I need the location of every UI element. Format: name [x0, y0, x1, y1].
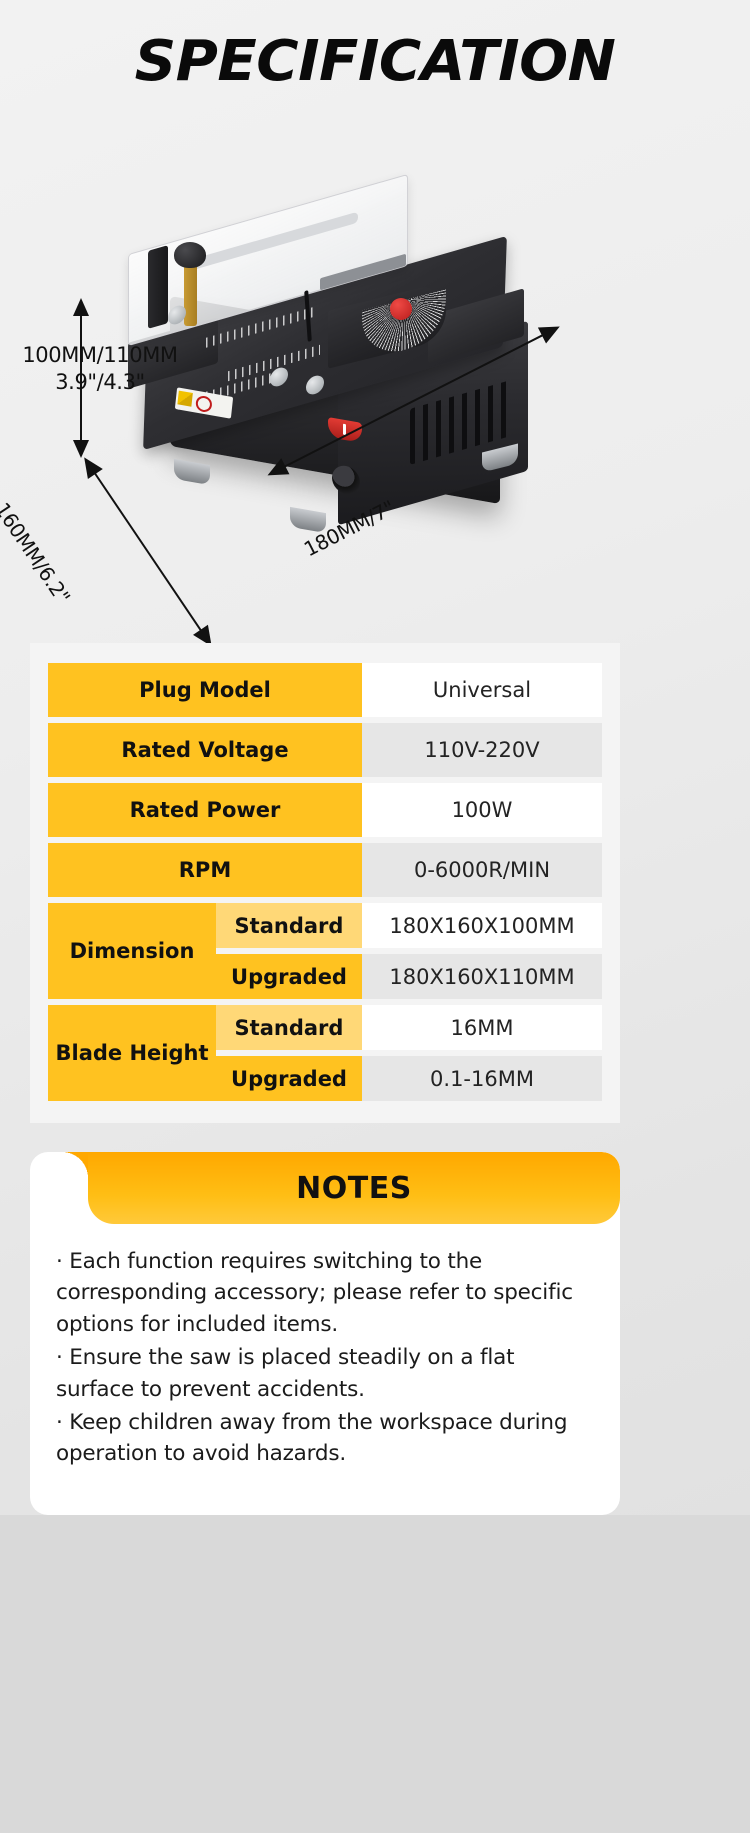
page-title: SPECIFICATION	[0, 34, 750, 90]
rubber-foot	[174, 459, 210, 485]
notes-title: NOTES	[296, 1171, 412, 1206]
spec-table-card: Plug Model Universal Rated Voltage 110V-…	[30, 643, 620, 1123]
page-footer-spacer	[0, 1515, 750, 1833]
note-item: · Keep children away from the workspace …	[56, 1407, 594, 1470]
spec-value-rated-power: 100W	[362, 783, 602, 837]
spec-sub-dimension-upgraded: Upgraded	[216, 954, 362, 999]
notes-body: · Each function requires switching to th…	[30, 1224, 620, 1470]
height-dimension-mm: 100MM/110MM	[0, 342, 200, 369]
note-item: · Each function requires switching to th…	[56, 1246, 594, 1340]
note-item: · Ensure the saw is placed steadily on a…	[56, 1342, 594, 1405]
spec-key-rated-power: Rated Power	[48, 783, 362, 837]
spec-value-blade-height-upgraded: 0.1-16MM	[362, 1056, 602, 1101]
table-row: RPM 0-6000R/MIN	[48, 843, 602, 897]
table-row: Plug Model Universal	[48, 663, 602, 717]
spec-value-rpm: 0-6000R/MIN	[362, 843, 602, 897]
table-row: Rated Voltage 110V-220V	[48, 723, 602, 777]
spec-table: Plug Model Universal Rated Voltage 110V-…	[48, 657, 602, 1107]
spec-key-rated-voltage: Rated Voltage	[48, 723, 362, 777]
depth-dimension-label: 160MM/6.2"	[0, 498, 75, 608]
spec-value-dimension-upgraded: 180X160X110MM	[362, 954, 602, 999]
spec-sub-blade-height-standard: Standard	[216, 1005, 362, 1050]
table-row: Rated Power 100W	[48, 783, 602, 837]
product-diagram: 100MM/110MM 3.9"/4.3" 160MM/6.2" 180MM/7…	[0, 150, 750, 640]
spec-key-dimension: Dimension	[48, 903, 216, 999]
spec-value-rated-voltage: 110V-220V	[362, 723, 602, 777]
spec-value-blade-height-standard: 16MM	[362, 1005, 602, 1050]
fence-knob-icon	[174, 242, 206, 268]
miter-lock-knob-icon	[390, 298, 412, 320]
height-dimension-label: 100MM/110MM 3.9"/4.3"	[0, 342, 200, 397]
notes-card: NOTES · Each function requires switching…	[30, 1152, 620, 1515]
page-title-container: SPECIFICATION	[0, 34, 750, 90]
height-dimension-inch: 3.9"/4.3"	[0, 369, 200, 396]
spec-sub-dimension-standard: Standard	[216, 903, 362, 948]
spec-value-dimension-standard: 180X160X100MM	[362, 903, 602, 948]
spec-sub-blade-height-upgraded: Upgraded	[216, 1056, 362, 1101]
spec-key-plug-model: Plug Model	[48, 663, 362, 717]
fence-knob-stem	[184, 260, 197, 326]
notes-header: NOTES	[88, 1152, 620, 1224]
table-row: Dimension Standard 180X160X100MM	[48, 903, 602, 948]
specification-page: SPECIFICATION	[0, 0, 750, 1833]
spec-key-blade-height: Blade Height	[48, 1005, 216, 1101]
spec-key-rpm: RPM	[48, 843, 362, 897]
fence-rail	[148, 245, 168, 329]
spec-value-plug-model: Universal	[362, 663, 602, 717]
table-row: Blade Height Standard 16MM	[48, 1005, 602, 1050]
